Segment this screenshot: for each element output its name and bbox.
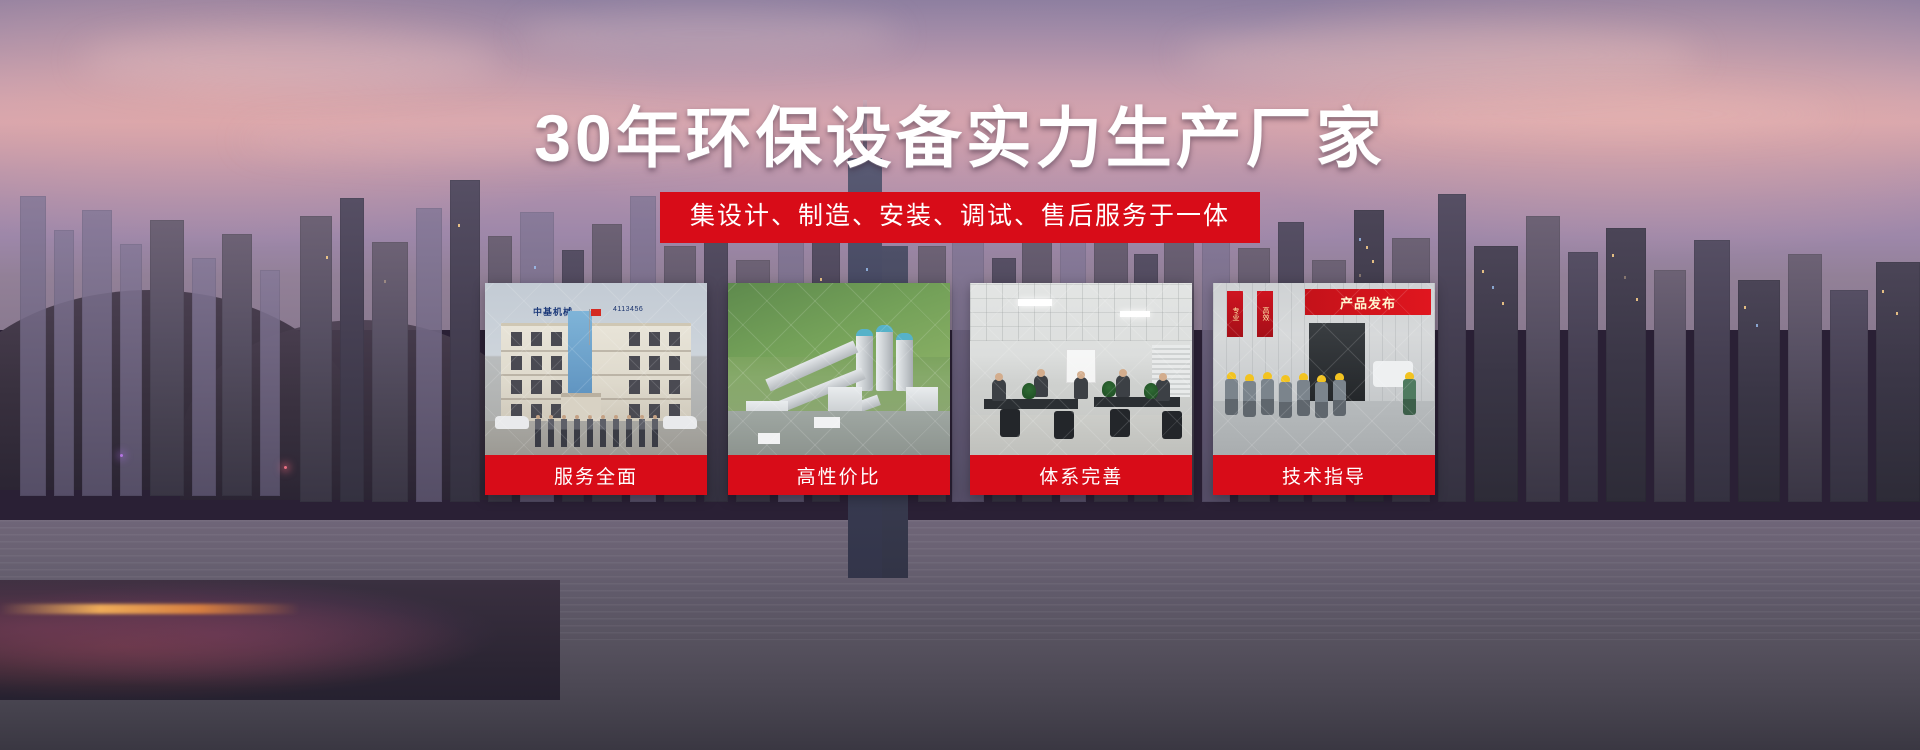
feature-card-label: 服务全面	[485, 455, 707, 495]
potted-plant	[1144, 383, 1158, 399]
banner-content: 30年环保设备实力生产厂家 集设计、制造、安装、调试、售后服务于一体 中基机械 …	[0, 0, 1920, 750]
vertical-banner-right: 高效	[1257, 291, 1273, 337]
truck	[758, 433, 780, 444]
office-chair	[1162, 411, 1182, 439]
feature-card-value[interactable]: 高性价比	[728, 283, 950, 495]
aerial-production-plant-photo	[728, 283, 950, 455]
building-sign-text: 中基机械	[533, 305, 573, 318]
office-chair	[1110, 409, 1130, 437]
workshop-banner: 产品发布	[1305, 289, 1431, 315]
office-chair	[1000, 409, 1020, 437]
workshop-workers-photo: 产品发布 专业 高效	[1213, 283, 1435, 455]
building-phone-text: 4113456	[613, 306, 643, 313]
flagpole	[589, 309, 590, 345]
potted-plant	[1022, 383, 1036, 399]
storage-silo	[876, 325, 893, 391]
office-ceiling	[970, 283, 1192, 341]
feature-card-label: 体系完善	[970, 455, 1192, 495]
feature-card-guidance[interactable]: 产品发布 专业 高效 技术指导	[1213, 283, 1435, 495]
ceiling-light	[1018, 299, 1052, 306]
storage-silo	[896, 333, 913, 391]
flag	[591, 309, 601, 316]
hero-banner: 30年环保设备实力生产厂家 集设计、制造、安装、调试、售后服务于一体 中基机械 …	[0, 0, 1920, 750]
parked-car	[663, 416, 697, 429]
feature-card-label: 高性价比	[728, 455, 950, 495]
parked-car	[495, 416, 529, 429]
potted-plant	[1102, 381, 1116, 397]
company-office-building-photo: 中基机械 4113456	[485, 283, 707, 455]
feature-card-service[interactable]: 中基机械 4113456	[485, 283, 707, 495]
feature-card-system[interactable]: 体系完善	[970, 283, 1192, 495]
vertical-banner-left: 专业	[1227, 291, 1243, 337]
page-title: 30年环保设备实力生产厂家	[0, 105, 1920, 171]
subtitle-badge: 集设计、制造、安装、调试、售后服务于一体	[660, 192, 1260, 243]
office-chair	[1054, 411, 1074, 439]
feature-card-label: 技术指导	[1213, 455, 1435, 495]
building-entrance	[561, 393, 601, 421]
subtitle-text: 集设计、制造、安装、调试、售后服务于一体	[690, 201, 1230, 232]
ceiling-light	[1120, 311, 1150, 317]
truck	[814, 417, 840, 428]
office-interior-photo	[970, 283, 1192, 455]
feature-card-list: 中基机械 4113456	[485, 283, 1435, 495]
